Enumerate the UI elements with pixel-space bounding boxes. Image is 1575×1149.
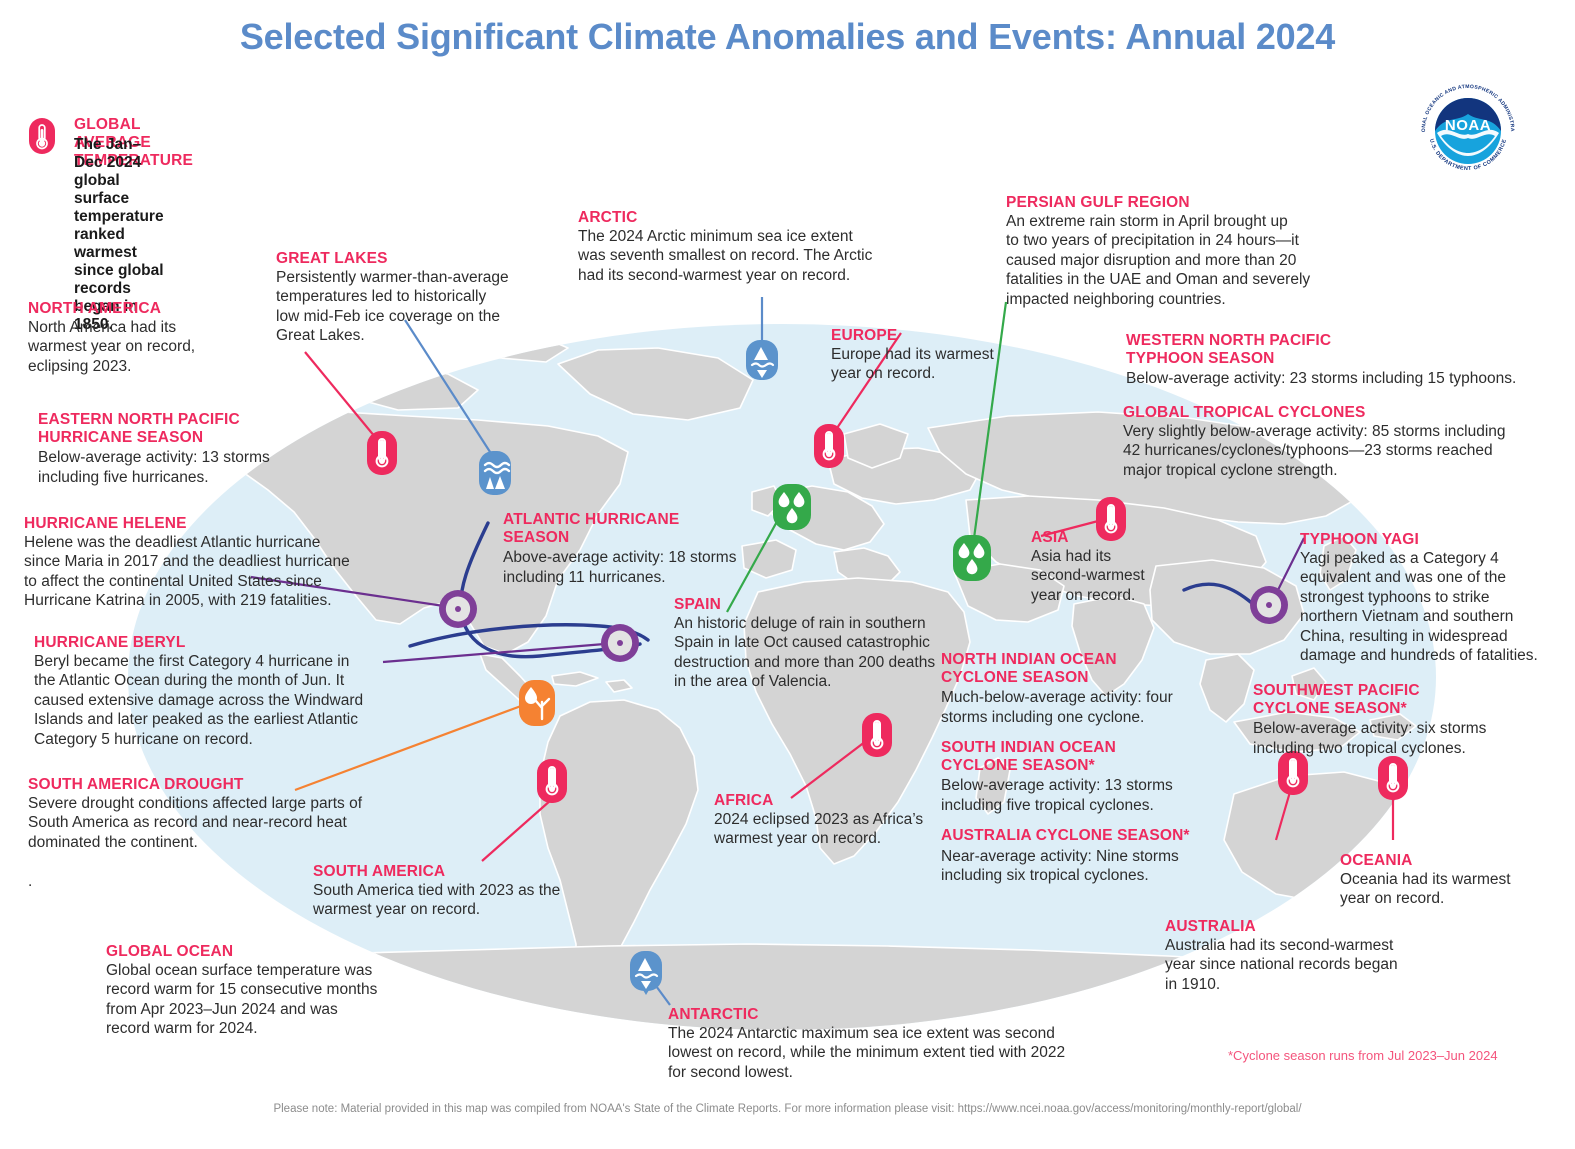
callout-typhoon-yagi: TYPHOON YAGI Yagi peaked as a Category 4… xyxy=(1300,531,1575,666)
callout-southwest-pacific-cyclone-season: SOUTHWEST PACIFIC CYCLONE SEASON* Below-… xyxy=(1253,682,1553,758)
callout-body: Beryl became the first Category 4 hurric… xyxy=(34,652,404,750)
callout-body: Persistently warmer-than-average tempera… xyxy=(276,268,546,346)
callout-heading: HURRICANE HELENE xyxy=(24,515,394,533)
callout-north-indian-ocean-cyclone-season: NORTH INDIAN OCEAN CYCLONE SEASON Much-b… xyxy=(941,651,1231,727)
callout-body: Asia had its second-warmest year on reco… xyxy=(1031,547,1201,606)
callout-arctic: ARCTIC The 2024 Arctic minimum sea ice e… xyxy=(578,209,918,285)
callout-north-america: NORTH AMERICA North America had its warm… xyxy=(28,300,288,376)
callout-global-tropical-cyclones: GLOBAL TROPICAL CYCLONES Very slightly b… xyxy=(1123,404,1543,480)
callout-heading: HURRICANE BERYL xyxy=(34,634,404,652)
callout-body: The 2024 Antarctic maximum sea ice exten… xyxy=(668,1024,1128,1083)
map-icon-north-america-thermometer[interactable] xyxy=(366,431,398,480)
thermometer-icon xyxy=(26,118,58,159)
callout-body: Oceania had its warmest year on record. xyxy=(1340,870,1570,909)
callout-body: An extreme rain storm in April brought u… xyxy=(1006,212,1346,310)
map-icon-beryl-cyclone[interactable] xyxy=(599,622,641,669)
callout-body: The 2024 Arctic minimum sea ice extent w… xyxy=(578,227,918,286)
callout-heading: SOUTHWEST PACIFIC CYCLONE SEASON* xyxy=(1253,682,1553,717)
map-icon-south-america-thermometer[interactable] xyxy=(536,759,568,808)
source-note: Please note: Material provided in this m… xyxy=(0,1103,1575,1115)
callout-asia: ASIA Asia had its second-warmest year on… xyxy=(1031,529,1201,605)
callout-persian-gulf-region: PERSIAN GULF REGION An extreme rain stor… xyxy=(1006,194,1346,309)
callout-heading: NORTH INDIAN OCEAN CYCLONE SEASON xyxy=(941,651,1231,686)
map-icon-arctic-ice[interactable] xyxy=(744,340,780,391)
callout-heading: GLOBAL OCEAN xyxy=(106,943,426,961)
map-icon-helene-cyclone[interactable] xyxy=(437,588,479,635)
map-icon-oceania-thermometer[interactable] xyxy=(1377,756,1409,805)
callout-heading: GLOBAL TROPICAL CYCLONES xyxy=(1123,404,1543,422)
callout-heading: ATLANTIC HURRICANE SEASON xyxy=(503,511,763,546)
callout-south-america: SOUTH AMERICA South America tied with 20… xyxy=(313,863,613,920)
map-icon-persian-gulf-precipitation[interactable] xyxy=(951,535,993,586)
map-icon-drought[interactable] xyxy=(517,680,557,731)
callout-body: Below-average activity: 13 storms includ… xyxy=(38,448,318,487)
callout-heading: AUSTRALIA xyxy=(1165,918,1465,936)
callout-heading: SPAIN xyxy=(674,596,1004,614)
callout-antarctic: ANTARCTIC The 2024 Antarctic maximum sea… xyxy=(668,1006,1128,1082)
callout-europe: EUROPE Europe had its warmest year on re… xyxy=(831,327,1051,384)
map-icon-antarctic-ice[interactable] xyxy=(628,951,664,1006)
callout-heading: TYPHOON YAGI xyxy=(1300,531,1575,549)
callout-heading: NORTH AMERICA xyxy=(28,300,288,318)
map-icon-europe-thermometer[interactable] xyxy=(813,424,845,473)
callout-body: Below-average activity: 13 storms includ… xyxy=(941,776,1231,815)
callout-body: Above-average activity: 18 storms includ… xyxy=(503,548,763,587)
callout-heading: PERSIAN GULF REGION xyxy=(1006,194,1346,212)
callout-heading: EUROPE xyxy=(831,327,1051,345)
callout-heading: EASTERN NORTH PACIFIC HURRICANE SEASON xyxy=(38,411,318,446)
map-icon-spain-precipitation[interactable] xyxy=(771,484,813,535)
callout-body: Helene was the deadliest Atlantic hurric… xyxy=(24,533,394,611)
callout-body: Australia had its second-warmest year si… xyxy=(1165,936,1465,995)
callout-body: North America had its warmest year on re… xyxy=(28,318,288,377)
callout-body: Europe had its warmest year on record. xyxy=(831,345,1051,384)
callout-body: Yagi peaked as a Category 4 equivalent a… xyxy=(1300,549,1575,666)
cyclone-season-footnote: *Cyclone season runs from Jul 2023–Jun 2… xyxy=(1228,1048,1498,1063)
callout-heading: ARCTIC xyxy=(578,209,918,227)
callout-heading: SOUTH INDIAN OCEAN CYCLONE SEASON* xyxy=(941,739,1231,774)
callout-hurricane-helene: HURRICANE HELENE Helene was the deadlies… xyxy=(24,515,394,611)
map-icon-yagi-cyclone[interactable] xyxy=(1248,584,1290,631)
callout-body: Below-average activity: six storms inclu… xyxy=(1253,719,1553,758)
callout-global-ocean: GLOBAL OCEAN Global ocean surface temper… xyxy=(106,943,426,1039)
callout-body: Below-average activity: 23 storms includ… xyxy=(1126,369,1556,389)
callout-australia-cyclone-season: AUSTRALIA CYCLONE SEASON* Near-average a… xyxy=(941,827,1271,886)
noaa-logo: NOAA NATIONAL OCEANIC AND ATMOSPHERIC AD… xyxy=(1413,76,1523,186)
callout-heading: WESTERN NORTH PACIFIC TYPHOON SEASON xyxy=(1126,332,1556,367)
callout-western-north-pacific-typhoon-season: WESTERN NORTH PACIFIC TYPHOON SEASON Bel… xyxy=(1126,332,1556,389)
callout-south-indian-ocean-cyclone-season: SOUTH INDIAN OCEAN CYCLONE SEASON* Below… xyxy=(941,739,1231,815)
svg-text:NOAA: NOAA xyxy=(1445,117,1491,134)
callout-heading: SOUTH AMERICA DROUGHT xyxy=(28,776,408,794)
callout-australia: AUSTRALIA Australia had its second-warme… xyxy=(1165,918,1465,994)
callout-atlantic-hurricane-season: ATLANTIC HURRICANE SEASON Above-average … xyxy=(503,511,763,587)
callout-hurricane-beryl: HURRICANE BERYL Beryl became the first C… xyxy=(34,634,404,749)
page-title: Selected Significant Climate Anomalies a… xyxy=(0,16,1575,58)
map-icon-australia-thermometer[interactable] xyxy=(1277,751,1309,800)
callout-heading: ANTARCTIC xyxy=(668,1006,1128,1024)
callout-body: Global ocean surface temperature was rec… xyxy=(106,961,426,1039)
callout-body: South America tied with 2023 as the warm… xyxy=(313,881,613,920)
map-icon-great-lakes-ice[interactable] xyxy=(477,451,513,500)
callout-heading: OCEANIA xyxy=(1340,852,1570,870)
callout-body: Near-average activity: Nine storms inclu… xyxy=(941,847,1271,886)
callout-heading: SOUTH AMERICA xyxy=(313,863,613,881)
callout-eastern-north-pacific-hurricane-season: EASTERN NORTH PACIFIC HURRICANE SEASON B… xyxy=(38,411,318,487)
callout-great-lakes: GREAT LAKES Persistently warmer-than-ave… xyxy=(276,250,546,346)
callout-body: Very slightly below-average activity: 85… xyxy=(1123,422,1543,481)
callout-oceania: OCEANIA Oceania had its warmest year on … xyxy=(1340,852,1570,909)
callout-body: Much-below-average activity: four storms… xyxy=(941,688,1231,727)
callout-heading: GREAT LAKES xyxy=(276,250,546,268)
infographic-canvas: Selected Significant Climate Anomalies a… xyxy=(0,0,1575,1149)
map-icon-africa-thermometer[interactable] xyxy=(861,713,893,762)
callout-heading: AUSTRALIA CYCLONE SEASON* xyxy=(941,827,1271,845)
callout-heading: ASIA xyxy=(1031,529,1201,547)
